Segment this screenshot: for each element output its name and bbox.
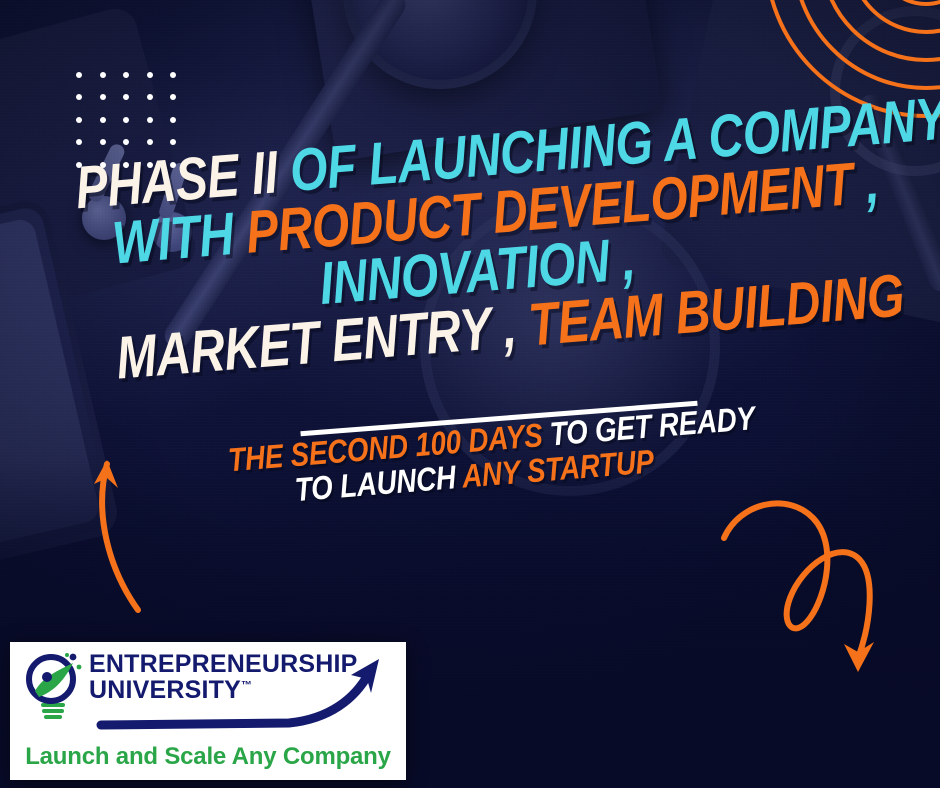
logo-name-line-2: UNIVERSITY™ [89,677,358,703]
grid-dot [76,139,82,145]
grid-dot [170,117,176,123]
poster-canvas: PHASE II OF LAUNCHING A COMPANY WITH PRO… [0,0,940,788]
headline-segment: , [850,148,881,217]
lightbulb-logo-icon [21,651,85,723]
looping-curly-arrow-icon [718,492,888,677]
grid-dot [123,117,129,123]
grid-dot [76,94,82,100]
logo-name-text: UNIVERSITY [89,676,241,704]
grid-dot [147,117,153,123]
logo-name-line-1: ENTREPRENEURSHIP [89,651,358,677]
grid-dot [147,72,153,78]
logo-card[interactable]: ENTREPRENEURSHIP UNIVERSITY™ Launch and … [10,642,406,780]
grid-dot [123,94,129,100]
trademark-symbol: ™ [241,680,252,692]
grid-dot [123,72,129,78]
grid-dot [170,94,176,100]
grid-dot [100,139,106,145]
logo-wordmark: ENTREPRENEURSHIP UNIVERSITY™ [89,651,358,703]
grid-dot [147,94,153,100]
grid-dot [100,72,106,78]
grid-dot [76,72,82,78]
grid-dot [100,117,106,123]
logo-tagline: Launch and Scale Any Company [13,743,403,771]
logo-top-row: ENTREPRENEURSHIP UNIVERSITY™ [13,645,403,733]
grid-dot [76,117,82,123]
grid-dot [123,139,129,145]
grid-dot [170,139,176,145]
grid-dot [170,72,176,78]
grid-dot [147,139,153,145]
grid-dot [100,94,106,100]
